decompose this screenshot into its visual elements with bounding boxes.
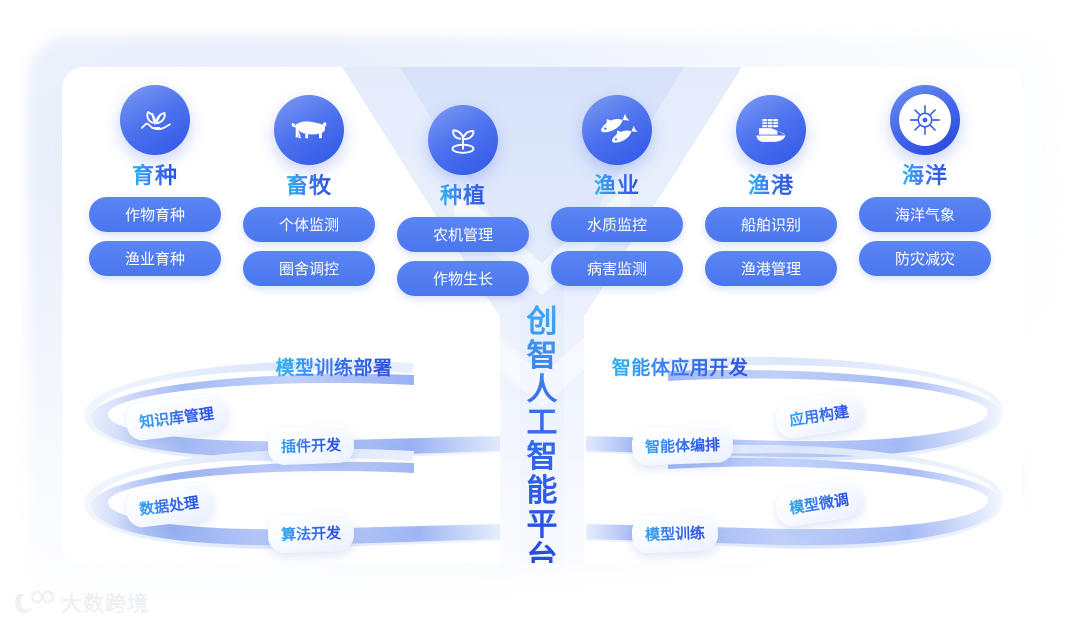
section-tag-label: 算法开发: [281, 522, 342, 545]
platform-char: 智: [516, 339, 568, 373]
platform-char: 工: [516, 406, 568, 440]
domain-columns: 育种 作物育种 渔业育种 畜牧 个体监测 圈舍调控: [62, 67, 1022, 307]
domain-tag[interactable]: 圈舍调控: [243, 251, 375, 286]
seedling-icon: [428, 105, 498, 175]
domain-title: 渔港: [748, 174, 794, 198]
domain-title: 畜牧: [286, 174, 332, 198]
section-tag-label: 模型训练: [645, 522, 706, 545]
watermark: 大数跨境: [12, 588, 149, 618]
domain-tag[interactable]: 水质监控: [551, 207, 683, 242]
section-tag-label: 模型微调: [788, 488, 851, 518]
section-title: 模型训练部署: [275, 353, 392, 380]
domain-column-planting[interactable]: 种植 农机管理 作物生长: [388, 105, 538, 296]
domain-tag[interactable]: 防灾减灾: [859, 241, 991, 276]
section-tag[interactable]: 插件开发: [267, 426, 354, 466]
domain-tag[interactable]: 船舶识别: [705, 207, 837, 242]
section-title: 智能体应用开发: [612, 353, 749, 380]
platform-char: 智: [516, 440, 568, 474]
domain-tag[interactable]: 农机管理: [397, 217, 529, 252]
cow-icon: [274, 95, 344, 165]
section-tag-label: 应用构建: [788, 400, 851, 430]
platform-char: 人: [516, 373, 568, 407]
section-tag[interactable]: 智能体编排: [631, 425, 733, 466]
section-agent-application-development: 智能体应用开发: [572, 343, 1002, 563]
domain-tag[interactable]: 海洋气象: [859, 197, 991, 232]
section-tag-label: 知识库管理: [138, 403, 215, 433]
two-fish-icon: [582, 95, 652, 165]
domain-column-breeding[interactable]: 育种 作物育种 渔业育种: [80, 85, 230, 276]
domain-tag[interactable]: 渔业育种: [89, 241, 221, 276]
domain-tag[interactable]: 渔港管理: [705, 251, 837, 286]
domain-title: 海洋: [902, 164, 948, 188]
section-tag[interactable]: 模型训练: [631, 514, 718, 554]
domain-tag[interactable]: 病害监测: [551, 251, 683, 286]
dashu-kuajing-logo-icon: [12, 590, 54, 616]
platform-char: 能: [516, 474, 568, 508]
cargo-ship-icon: [736, 95, 806, 165]
platform-vertical-title: 创 智 人 工 智 能 平 台: [516, 305, 568, 563]
domain-title: 渔业: [594, 174, 640, 198]
section-tag[interactable]: 算法开发: [267, 514, 354, 554]
domain-column-fishing-port[interactable]: 渔港 船舶识别 渔港管理: [696, 95, 846, 286]
section-tag-label: 插件开发: [281, 434, 342, 457]
watermark-text: 大数跨境: [61, 588, 149, 618]
sprout-in-hand-icon: [120, 85, 190, 155]
domain-title: 种植: [440, 184, 486, 208]
domain-column-livestock[interactable]: 畜牧 个体监测 圈舍调控: [234, 95, 384, 286]
domain-column-ocean[interactable]: 海洋 海洋气象 防灾减灾: [850, 85, 1000, 276]
domain-title: 育种: [132, 164, 178, 188]
infographic-page: 育种 作物育种 渔业育种 畜牧 个体监测 圈舍调控: [0, 0, 1080, 630]
ship-wheel-icon: [890, 85, 960, 155]
platform-char: 平: [516, 508, 568, 542]
domain-tag[interactable]: 作物育种: [89, 197, 221, 232]
section-tag-label: 数据处理: [138, 491, 200, 519]
platform-char: 创: [516, 305, 568, 339]
domain-column-fishery[interactable]: 渔业 水质监控 病害监测: [542, 95, 692, 286]
main-card: 育种 作物育种 渔业育种 畜牧 个体监测 圈舍调控: [62, 67, 1022, 563]
section-tag-label: 智能体编排: [645, 434, 721, 458]
platform-char: 台: [516, 541, 568, 563]
section-model-training-deployment: 模型训练部署: [82, 343, 512, 563]
domain-tag[interactable]: 作物生长: [397, 261, 529, 296]
domain-tag[interactable]: 个体监测: [243, 207, 375, 242]
